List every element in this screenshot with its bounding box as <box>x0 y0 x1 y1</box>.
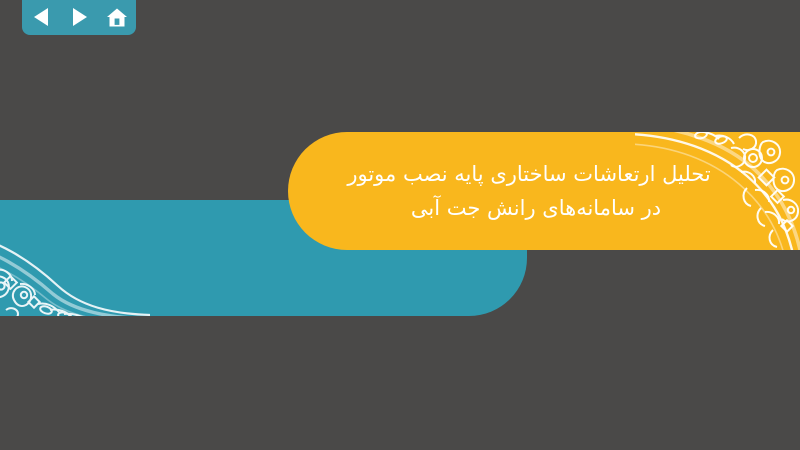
title-banner <box>288 132 800 250</box>
presentation-slide: تحلیل ارتعاشات ساختاری پایه نصب موتور در… <box>0 0 800 450</box>
next-slide-button[interactable] <box>64 4 94 30</box>
navigation-toolbar <box>22 0 136 35</box>
home-icon <box>106 7 128 28</box>
home-button[interactable] <box>102 4 132 30</box>
arabesque-corner-ornament <box>0 200 150 316</box>
triangle-right-icon <box>70 7 88 27</box>
arabesque-corner-ornament <box>635 132 800 250</box>
previous-slide-button[interactable] <box>26 4 56 30</box>
triangle-left-icon <box>32 7 50 27</box>
